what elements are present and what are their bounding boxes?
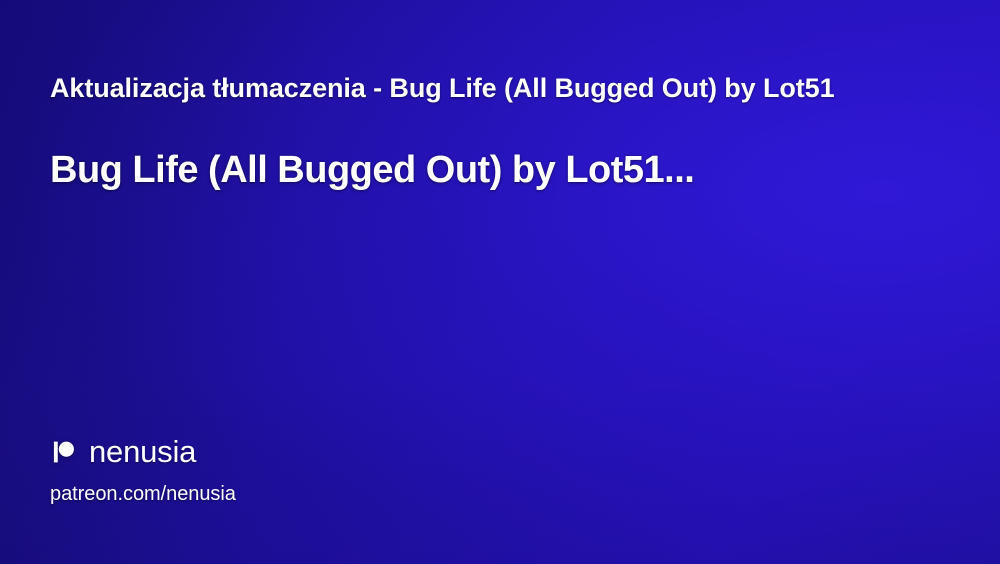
post-title: Aktualizacja tłumaczenia - Bug Life (All… [50, 70, 898, 107]
page-headline: Bug Life (All Bugged Out) by Lot51... [50, 147, 930, 194]
patreon-logo-icon [50, 439, 76, 465]
profile-url[interactable]: patreon.com/nenusia [50, 482, 950, 506]
creator-brand[interactable]: nenusia [50, 436, 950, 467]
creator-name: nenusia [89, 436, 196, 467]
card-content: Aktualizacja tłumaczenia - Bug Life (All… [0, 0, 1000, 564]
layout-spacer [50, 194, 950, 436]
patreon-share-card: Aktualizacja tłumaczenia - Bug Life (All… [0, 0, 1000, 564]
